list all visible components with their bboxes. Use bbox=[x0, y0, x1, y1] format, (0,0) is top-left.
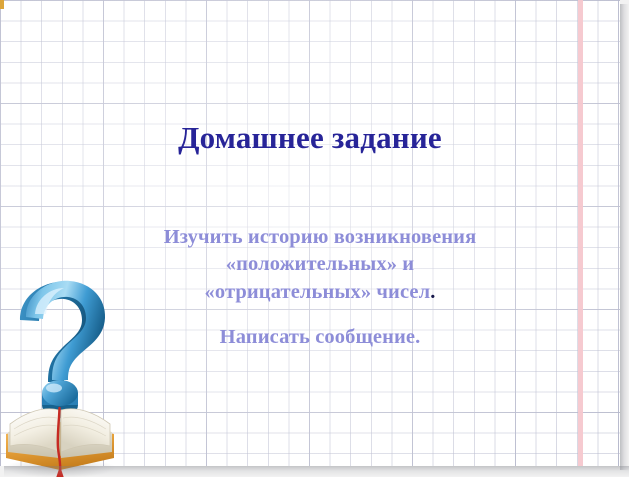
page-title: Домашнее задание bbox=[0, 122, 620, 155]
assignment-task-2: Написать сообщение. bbox=[110, 324, 530, 351]
question-mark-book-icon bbox=[2, 276, 124, 480]
assignment-task-1: Изучить историю возникновения «положител… bbox=[110, 224, 530, 306]
paper-shadow-right bbox=[620, 4, 629, 470]
task-1-line-3: «отрицательных» чисел bbox=[205, 281, 431, 303]
question-mark-dot-top bbox=[42, 380, 78, 406]
slide-canvas: Домашнее задание Изучить историю возникн… bbox=[0, 0, 640, 480]
task-1-terminator: . bbox=[430, 281, 435, 303]
assignment-body: Изучить историю возникновения «положител… bbox=[110, 224, 530, 351]
question-mark-dot-gloss bbox=[46, 384, 62, 393]
paper-shadow-bottom bbox=[4, 466, 629, 477]
task-1-line-2: «положительных» и bbox=[226, 253, 414, 275]
task-1-line-1: Изучить историю возникновения bbox=[164, 226, 477, 248]
outer-area-right bbox=[629, 0, 640, 480]
question-mark-face bbox=[26, 281, 105, 380]
